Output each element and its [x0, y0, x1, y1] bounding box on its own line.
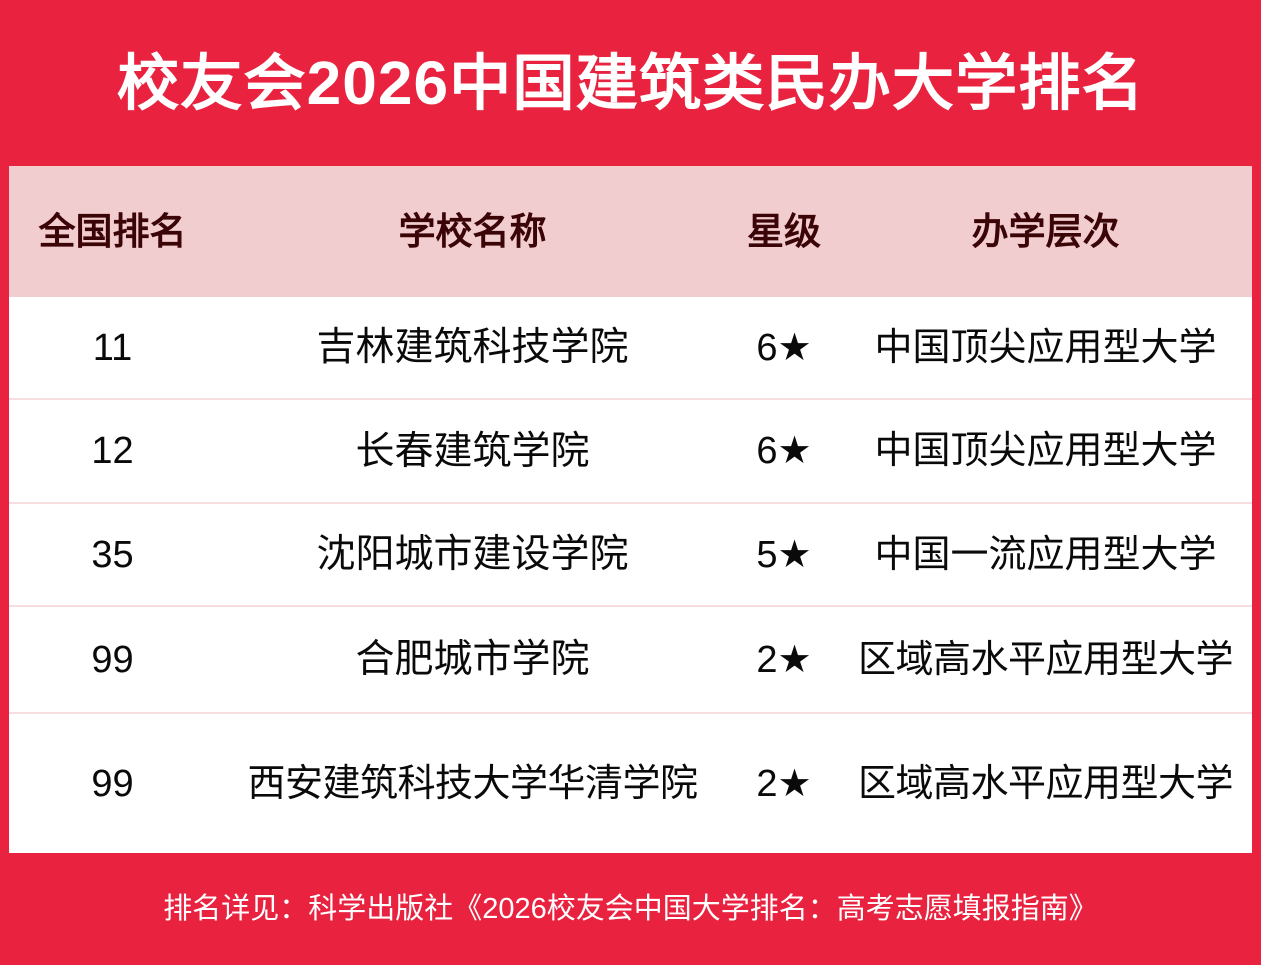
- table-row: 35 沈阳城市建设学院 5★ 中国一流应用型大学: [9, 502, 1252, 605]
- cell-rank: 35: [9, 536, 216, 574]
- cell-school-name: 西安建筑科技大学华清学院: [216, 765, 729, 803]
- column-header-school-level: 办学层次: [839, 213, 1252, 250]
- column-header-school-name: 学校名称: [216, 213, 729, 250]
- cell-rank: 99: [9, 765, 216, 803]
- poster-title-bar: 校友会2026中国建筑类民办大学排名: [0, 0, 1261, 166]
- column-header-star-rating: 星级: [729, 213, 839, 250]
- cell-rank: 12: [9, 432, 216, 470]
- cell-school-name: 吉林建筑科技学院: [216, 328, 729, 367]
- table-row: 11 吉林建筑科技学院 6★ 中国顶尖应用型大学: [9, 297, 1252, 398]
- cell-star-rating: 5★: [729, 536, 839, 574]
- table-row: 99 合肥城市学院 2★ 区域高水平应用型大学: [9, 605, 1252, 712]
- cell-school-name: 合肥城市学院: [216, 640, 729, 679]
- table-row: 12 长春建筑学院 6★ 中国顶尖应用型大学: [9, 398, 1252, 502]
- cell-school-level: 中国顶尖应用型大学: [839, 432, 1252, 470]
- cell-star-rating: 2★: [729, 641, 839, 679]
- table-row: 99 西安建筑科技大学华清学院 2★ 区域高水平应用型大学: [9, 712, 1252, 853]
- cell-school-level: 中国顶尖应用型大学: [839, 329, 1252, 367]
- column-header-rank: 全国排名: [9, 213, 216, 250]
- cell-star-rating: 2★: [729, 765, 839, 803]
- cell-rank: 11: [9, 329, 216, 367]
- page-title: 校友会2026中国建筑类民办大学排名: [117, 53, 1145, 114]
- cell-star-rating: 6★: [729, 432, 839, 470]
- cell-school-level: 区域高水平应用型大学: [839, 765, 1252, 803]
- ranking-poster: 校友会2026中国建筑类民办大学排名 全国排名 学校名称 星级 办学层次 11 …: [0, 0, 1261, 965]
- footer-source-note: 排名详见：科学出版社《2026校友会中国大学排名：高考志愿填报指南》: [163, 895, 1098, 924]
- cell-school-level: 区域高水平应用型大学: [839, 641, 1252, 679]
- cell-rank: 99: [9, 641, 216, 679]
- table-header-row: 全国排名 学校名称 星级 办学层次: [9, 166, 1252, 297]
- cell-school-level: 中国一流应用型大学: [839, 536, 1252, 574]
- poster-footer-bar: 排名详见：科学出版社《2026校友会中国大学排名：高考志愿填报指南》: [0, 853, 1261, 965]
- cell-school-name: 沈阳城市建设学院: [216, 535, 729, 574]
- cell-star-rating: 6★: [729, 329, 839, 367]
- ranking-table: 全国排名 学校名称 星级 办学层次 11 吉林建筑科技学院 6★ 中国顶尖应用型…: [9, 166, 1252, 853]
- cell-school-name: 长春建筑学院: [216, 432, 729, 471]
